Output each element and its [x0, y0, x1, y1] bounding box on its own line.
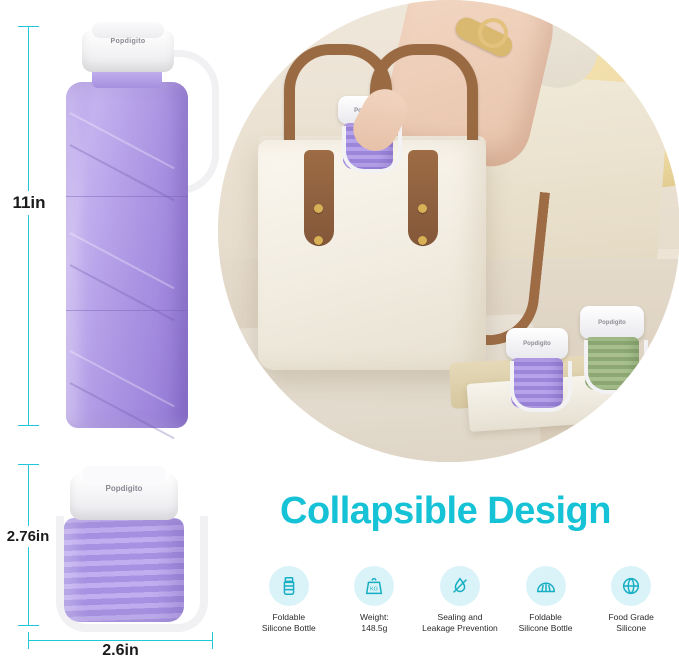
mini-bottle-purple-strap [510, 361, 573, 413]
photo-bag-stud [314, 204, 323, 213]
bottle-folded-panel: 2.76in Popdigito 2.6in [0, 452, 236, 672]
photo-bag-stud [418, 236, 427, 245]
bottle-body [66, 82, 188, 428]
width-label: 2.6in [28, 642, 213, 660]
brand-label-folded: Popdigito [82, 484, 166, 493]
lifestyle-photo: Popdigito Popdigito Popdigito [218, 0, 679, 462]
photo-bag-stud [418, 204, 427, 213]
mini-bottle-purple: Popdigito [506, 328, 568, 410]
no-leak-icon [440, 566, 480, 606]
svg-text:KG: KG [370, 587, 378, 593]
feature-label-line1: Foldable [246, 612, 332, 623]
mini-bottle-green-cap: Popdigito [580, 306, 644, 339]
food-grade-icon [611, 566, 651, 606]
folded-bellows [64, 518, 184, 622]
photo-handbag [258, 140, 486, 370]
folded-height-dimension: 2.76in [4, 464, 44, 626]
product-infographic: 11in Popdigito [0, 0, 679, 672]
photo-bag-tab-left [304, 150, 334, 246]
width-dimension: 2.6in [28, 632, 213, 662]
height-dimension: 11in [8, 26, 48, 426]
folded-cap-top [82, 466, 166, 482]
feature-label-line1: Sealing and [417, 612, 503, 623]
dimension-cap-top [18, 26, 39, 27]
feature-item: Foldable Silicone Bottle [503, 566, 589, 656]
bottle-extended-panel: 11in Popdigito [0, 0, 232, 450]
feature-label-line2: 148.5g [332, 623, 418, 634]
feature-label-line2: Silicone [588, 623, 674, 634]
height-label: 11in [3, 191, 55, 215]
mini-bottle-purple-cap: Popdigito [506, 328, 568, 359]
photo-bag-stud [314, 236, 323, 245]
feature-item: KG Weight: 148.5g [332, 566, 418, 656]
bottle-folded: Popdigito [48, 472, 198, 628]
dimension-line-horizontal [28, 640, 213, 641]
feature-list: Foldable Silicone Bottle KG Weight: 148.… [246, 566, 674, 656]
brand-label-extended: Popdigito [92, 38, 164, 45]
feature-label-line1: Foldable [503, 612, 589, 623]
feature-label-line1: Food Grade [588, 612, 674, 623]
feature-label-line2: Leakage Prevention [417, 623, 503, 634]
feature-item: Food Grade Silicone [588, 566, 674, 656]
bottle-extended: Popdigito [56, 16, 206, 436]
foldable-bottle-icon [269, 566, 309, 606]
dimension-line-vertical [28, 26, 29, 426]
mini-bottle-green: Popdigito [580, 306, 644, 392]
headline: Collapsible Design [280, 492, 672, 530]
dimension-cap-bottom [18, 425, 39, 426]
feature-label-line2: Silicone Bottle [246, 623, 332, 634]
brand-label-mini-green: Popdigito [580, 320, 644, 326]
dimension-cap-top-folded [18, 464, 39, 465]
photo-bag-tab-right [408, 150, 438, 246]
weight-scale-icon: KG [354, 566, 394, 606]
feature-item: Foldable Silicone Bottle [246, 566, 332, 656]
foldable-fan-icon [526, 566, 566, 606]
brand-label-mini-purple: Popdigito [506, 341, 568, 347]
feature-item: Sealing and Leakage Prevention [417, 566, 503, 656]
dimension-cap-bottom-folded [18, 625, 39, 626]
feature-label-line1: Weight: [332, 612, 418, 623]
mini-bottle-green-strap [584, 340, 648, 394]
feature-label-line2: Silicone Bottle [503, 623, 589, 634]
bottle-cap-top [92, 22, 164, 38]
